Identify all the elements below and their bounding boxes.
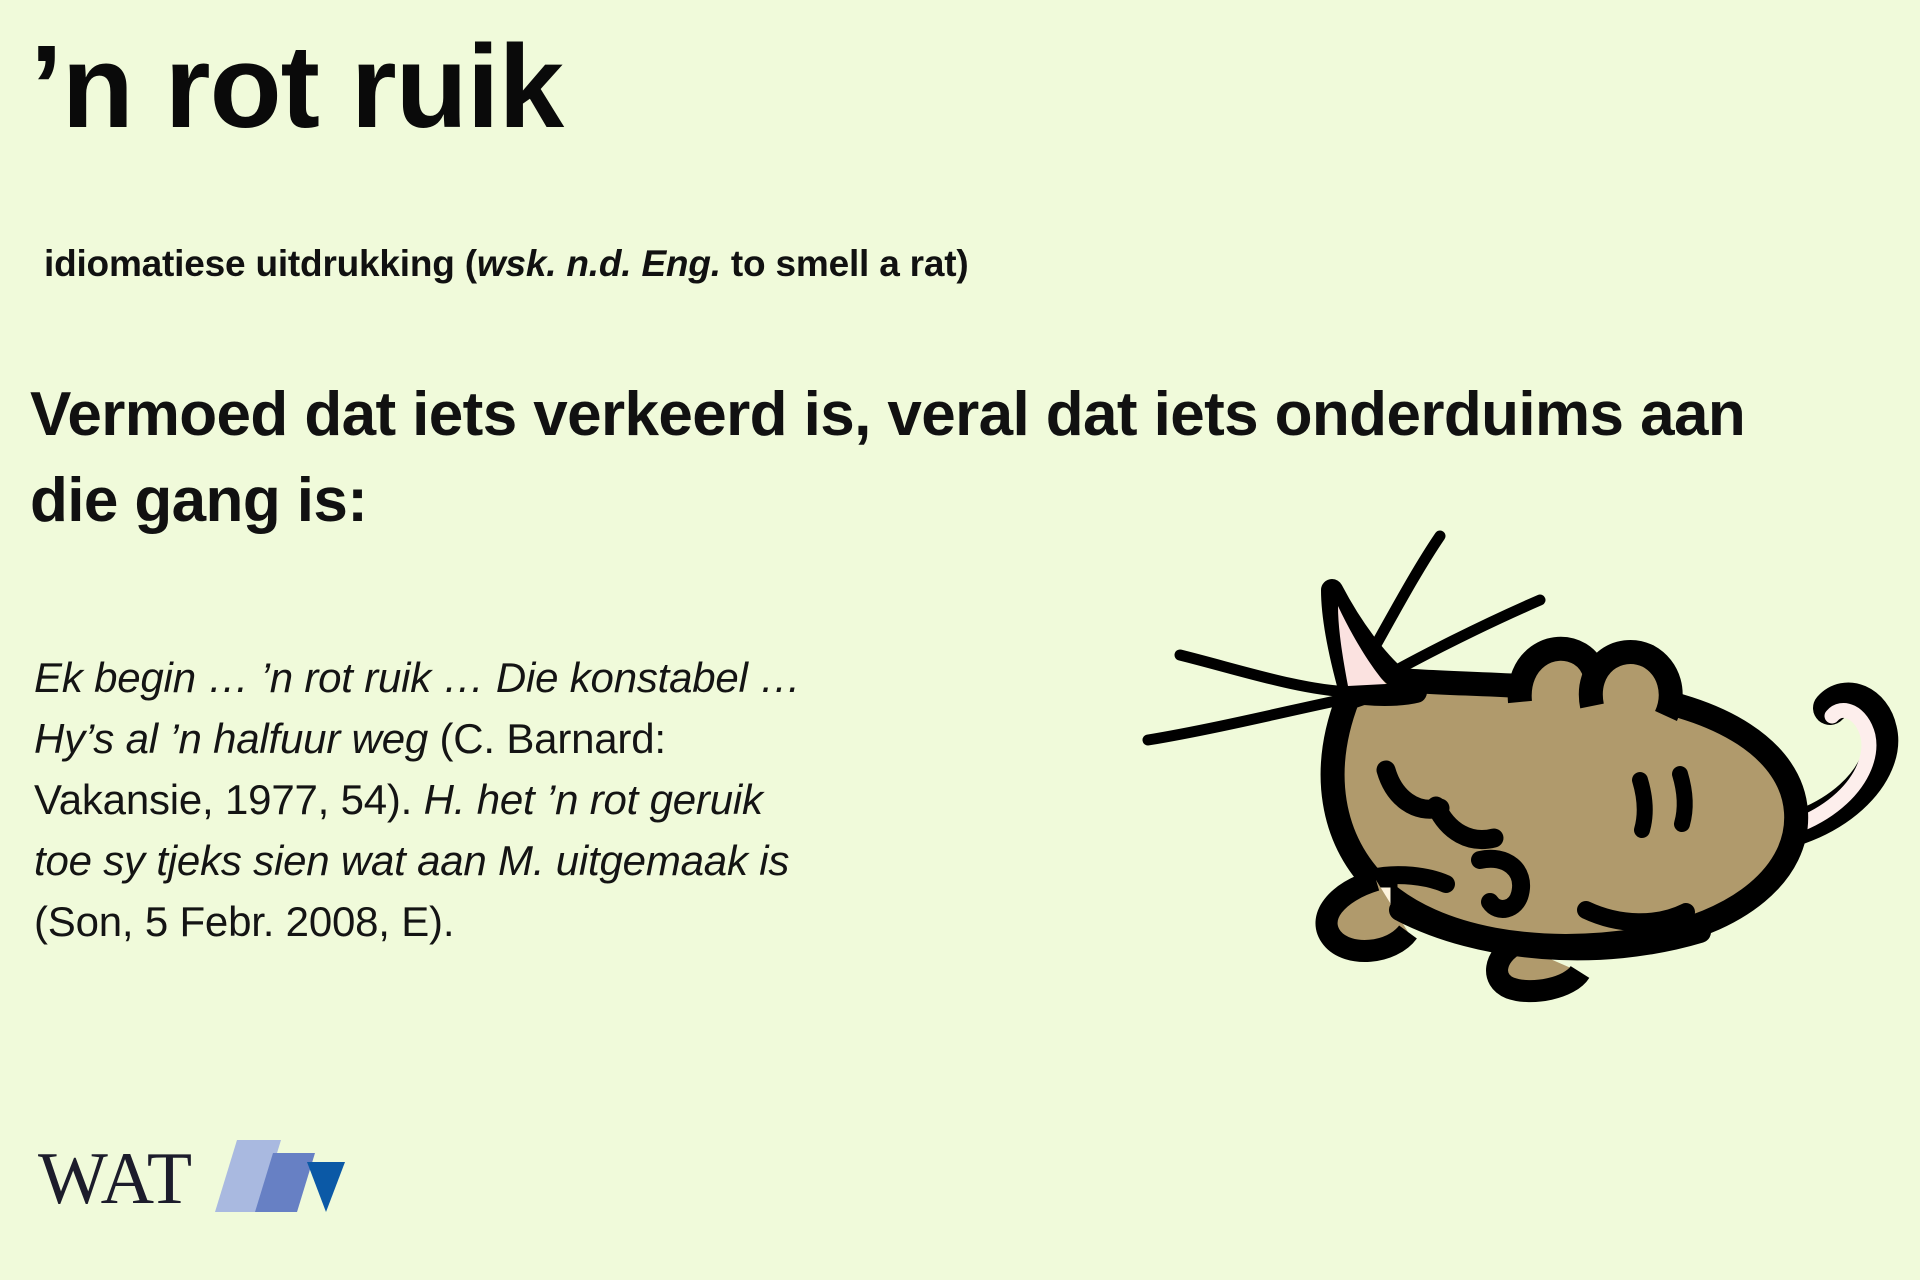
citation-source-2: (Son, 5 Febr. 2008, E).: [34, 898, 454, 945]
citation-block: Ek begin … ’n rot ruik … Die konstabel ……: [34, 648, 824, 952]
rat-ear-front: [1591, 652, 1671, 716]
pos-suffix: to smell a rat): [721, 243, 969, 284]
wat-logo: WAT: [38, 1140, 345, 1217]
rat-illustration: [880, 440, 1910, 1000]
dictionary-entry-card: ’n rot ruik idiomatiese uitdrukking (wsk…: [0, 0, 1920, 1280]
pos-prefix: idiomatiese uitdrukking (: [44, 243, 477, 284]
citation-quote-1: Ek begin … ’n rot ruik … Die konstabel ……: [34, 654, 801, 762]
page-title: ’n rot ruik: [30, 28, 563, 146]
rat-fur-mark-2: [1680, 774, 1685, 824]
etymology-abbreviation: wsk. n.d. Eng.: [477, 243, 721, 284]
part-of-speech-line: idiomatiese uitdrukking (wsk. n.d. Eng. …: [44, 243, 968, 285]
wat-w-logo-icon: [215, 1140, 345, 1217]
rat-fur-mark-1: [1640, 780, 1645, 830]
wat-logo-wordmark: WAT: [38, 1142, 193, 1216]
